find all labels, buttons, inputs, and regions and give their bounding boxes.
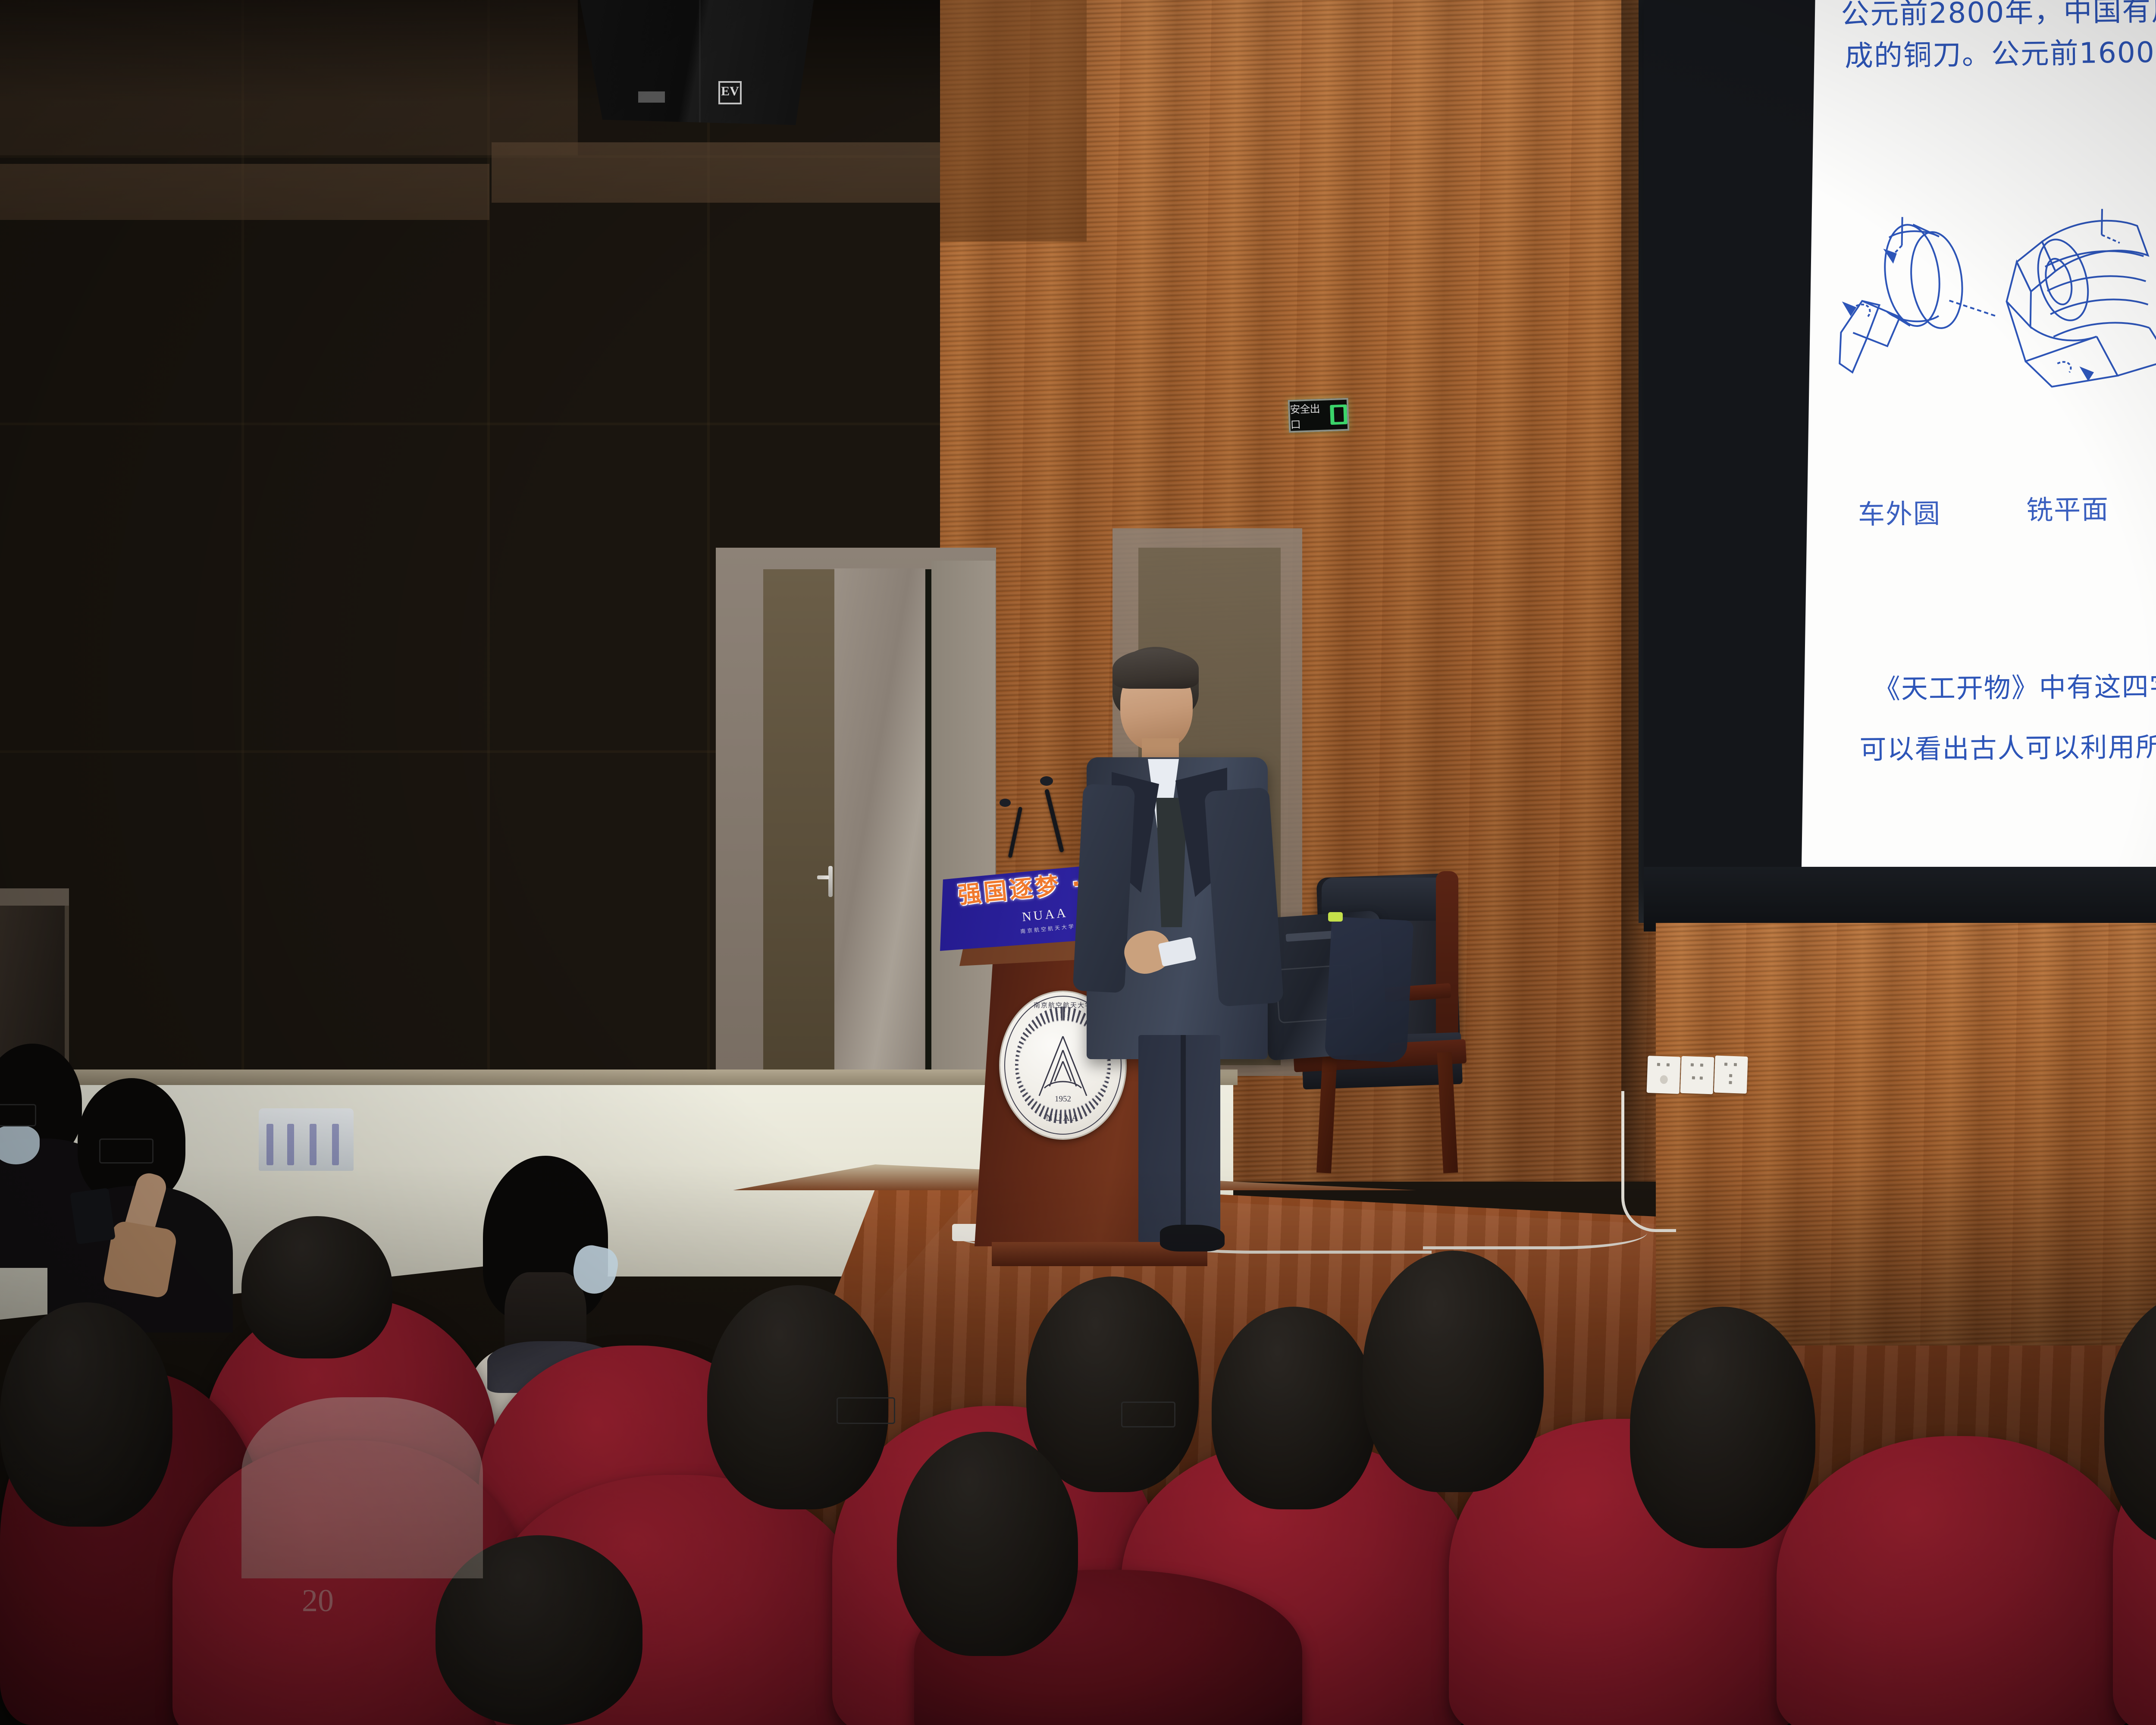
- diagram-caption-milling: 铣平面: [2026, 487, 2109, 527]
- wall-outlet-2[interactable]: [1680, 1056, 1714, 1095]
- ev-brand-logo: EV: [718, 81, 742, 104]
- door-leaf[interactable]: [834, 568, 925, 1084]
- diagram-caption-turning: 车外圆: [1858, 492, 1941, 531]
- bag-tag: [1328, 912, 1343, 922]
- audience-head: [241, 1216, 392, 1358]
- audience-head: [1026, 1276, 1199, 1492]
- eyeglasses: [99, 1138, 154, 1164]
- door-gap: [925, 569, 931, 1082]
- presenter-hair-top: [1112, 649, 1199, 689]
- exit-sign: 安全出口: [1288, 398, 1350, 433]
- auditorium-seat: [1777, 1436, 2139, 1725]
- speaker-seam: [699, 0, 701, 125]
- slide-top-line-2: 成的铜刀。公元前1600年，中国用天然磨料磨: [1844, 26, 2156, 75]
- stone-seam: [0, 423, 940, 425]
- smartphone: [70, 1188, 116, 1244]
- wall-outlet-3[interactable]: [1714, 1055, 1748, 1094]
- presenter-trouser-crease: [1181, 1035, 1186, 1242]
- emblem-acronym: NUAA: [1046, 1112, 1080, 1123]
- eyeglasses: [0, 1104, 36, 1126]
- audience-head: [897, 1432, 1078, 1656]
- draped-jacket: [1324, 916, 1413, 1063]
- exit-door-icon: [1330, 405, 1347, 425]
- slide-top-line-1: 公元前2800年，中国有用...铸造而: [1841, 0, 2156, 33]
- microphone-head: [1040, 776, 1053, 786]
- audience-head: [1363, 1251, 1544, 1492]
- slide-bottom-line-2: 可以看出古人可以利用所拥有的器具进行简单: [1859, 723, 2156, 766]
- door-handle[interactable]: [828, 866, 833, 897]
- backpack-logo: [1285, 931, 1333, 942]
- eyeglasses: [837, 1397, 895, 1424]
- presenter-trousers: [1138, 1035, 1220, 1242]
- wood-shadow-strip: [940, 0, 1087, 241]
- lecture-hall-photo: 公元前2800年，中国有用...铸造而 成的铜刀。公元前1600年，中国用天然磨…: [0, 0, 2156, 1725]
- door-jamb: [931, 561, 995, 1084]
- power-cable-floor-1: [1423, 1207, 1647, 1249]
- wall-band: [0, 164, 489, 220]
- water-bottle-pack: [259, 1108, 354, 1171]
- wood-wall-lower: [1656, 923, 2156, 1345]
- wall-outlet-1[interactable]: [1647, 1056, 1681, 1094]
- audience-light-shirt: [241, 1397, 483, 1578]
- audience-head: [0, 1302, 172, 1527]
- seat-number: 20: [302, 1583, 334, 1619]
- eyeglasses: [1121, 1402, 1175, 1427]
- speaker-label: [638, 91, 665, 103]
- emblem-founding-year: 1952: [1055, 1095, 1071, 1104]
- side-cabinet-top: [0, 888, 69, 906]
- screen-bottom-frame: [1644, 867, 2156, 931]
- ceiling-speaker: EV: [573, 0, 815, 125]
- audience-head: [1212, 1307, 1376, 1509]
- diagram-milling: [1988, 188, 2156, 389]
- microphone-head-2: [1000, 799, 1011, 807]
- door-opening-dark: [763, 569, 837, 1082]
- exit-sign-text: 安全出口: [1290, 400, 1329, 431]
- presenter-shoe: [1160, 1225, 1225, 1251]
- presenter-arm-left: [1073, 784, 1135, 993]
- slide-content: 公元前2800年，中国有用...铸造而 成的铜刀。公元前1600年，中国用天然磨…: [1802, 0, 2156, 888]
- emblem-university-name: 南京航空航天大学: [1034, 1000, 1092, 1010]
- podium-banner-acronym: NUAA: [1022, 906, 1069, 925]
- audience-head: [1630, 1307, 1815, 1548]
- slide-bottom-line-1: 《天工开物》中有这四字“切、磋、琢、磨”: [1873, 663, 2156, 706]
- projection-screen: 公元前2800年，中国有用...铸造而 成的铜刀。公元前1600年，中国用天然磨…: [1802, 0, 2156, 888]
- podium-banner-acronym-cn: 南京航空航天大学: [1020, 922, 1075, 935]
- emblem-arrow-mark: [1031, 1033, 1095, 1104]
